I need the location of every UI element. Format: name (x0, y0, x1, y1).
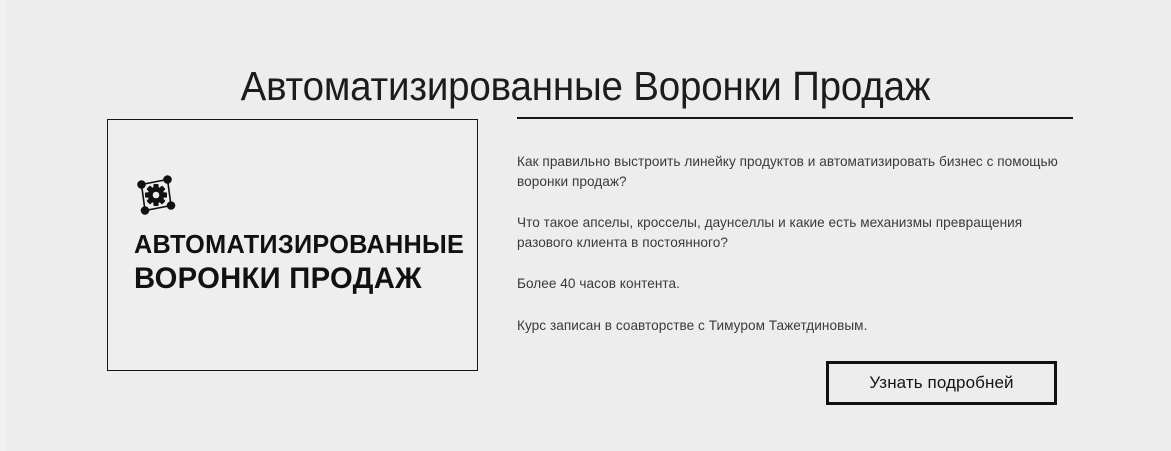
page-title: Автоматизированные Воронки Продаж (35, 63, 1136, 110)
course-promo-page: Автоматизированные Воронки Продаж (0, 0, 1171, 451)
course-cover-content: АВТОМАТИЗИРОВАННЫЕ ВОРОНКИ ПРОДАЖ (134, 174, 464, 294)
gear-in-frame-icon (134, 174, 178, 218)
course-cover-card[interactable]: АВТОМАТИЗИРОВАННЫЕ ВОРОНКИ ПРОДАЖ (107, 119, 478, 371)
learn-more-button-label: Узнать подробней (869, 373, 1013, 393)
section-divider (517, 117, 1073, 119)
description-paragraph-3: Более 40 часов контента. (517, 274, 1073, 294)
course-cover-title-line-2: ВОРОНКИ ПРОДАЖ (134, 263, 461, 295)
description-paragraph-1: Как правильно выстроить линейку продукто… (517, 152, 1069, 192)
course-cover-title-line-1: АВТОМАТИЗИРОВАННЫЕ (134, 232, 461, 260)
learn-more-button[interactable]: Узнать подробней (826, 361, 1057, 405)
description-paragraph-2: Что такое апселы, кросселы, даунселлы и … (517, 213, 1073, 253)
course-details: Как правильно выстроить линейку продукто… (517, 117, 1073, 336)
description-paragraph-4: Курс записан в соавторстве с Тимуром Таж… (517, 316, 1073, 336)
